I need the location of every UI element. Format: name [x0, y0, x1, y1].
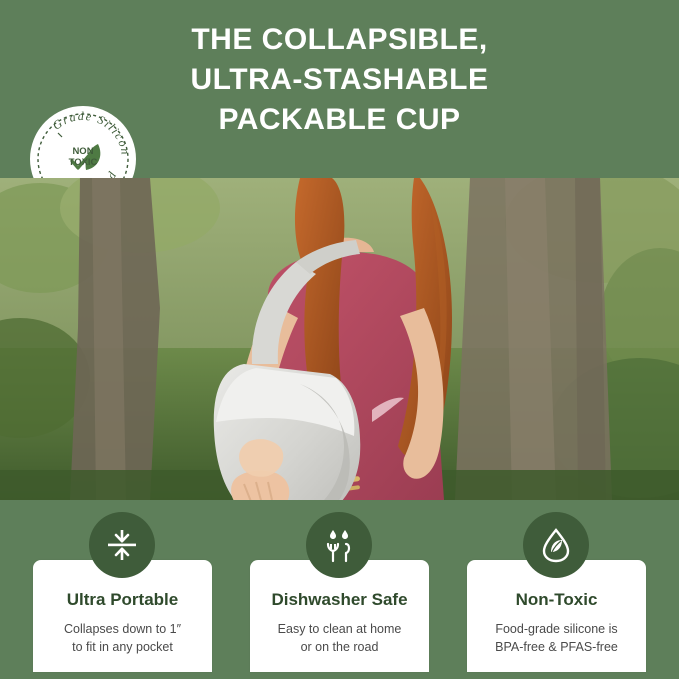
feature-body-line-1: Collapses down to 1″ [33, 620, 212, 638]
feature-body-line-2: or on the road [250, 638, 429, 656]
feature-body: Food-grade silicone is BPA-free & PFAS-f… [467, 620, 646, 656]
collapse-arrows-icon [89, 512, 155, 578]
badge-center-line-2: TOXIC [69, 157, 98, 168]
product-infographic: THE COLLAPSIBLE, ULTRA-STASHABLE PACKABL… [0, 0, 679, 679]
feature-body-line-2: BPA-free & PFAS-free [467, 638, 646, 656]
headline-line-1: THE COLLAPSIBLE, [0, 20, 679, 60]
headline-line-2: ULTRA-STASHABLE [0, 60, 679, 100]
feature-body: Easy to clean at home or on the road [250, 620, 429, 656]
dishwasher-safe-icon [306, 512, 372, 578]
feature-title: Dishwasher Safe [250, 590, 429, 610]
feature-strip: Ultra Portable Collapses down to 1″ to f… [0, 500, 679, 679]
leaf-drop-icon [523, 512, 589, 578]
feature-body-line-1: Easy to clean at home [250, 620, 429, 638]
feature-body: Collapses down to 1″ to fit in any pocke… [33, 620, 212, 656]
header-banner: THE COLLAPSIBLE, ULTRA-STASHABLE PACKABL… [0, 0, 679, 178]
badge-center-line-1: NON [72, 146, 93, 157]
feature-title: Ultra Portable [33, 590, 212, 610]
product-lifestyle-photo [0, 178, 679, 500]
feature-body-line-1: Food-grade silicone is [467, 620, 646, 638]
feature-title: Non-Toxic [467, 590, 646, 610]
feature-body-line-2: to fit in any pocket [33, 638, 212, 656]
